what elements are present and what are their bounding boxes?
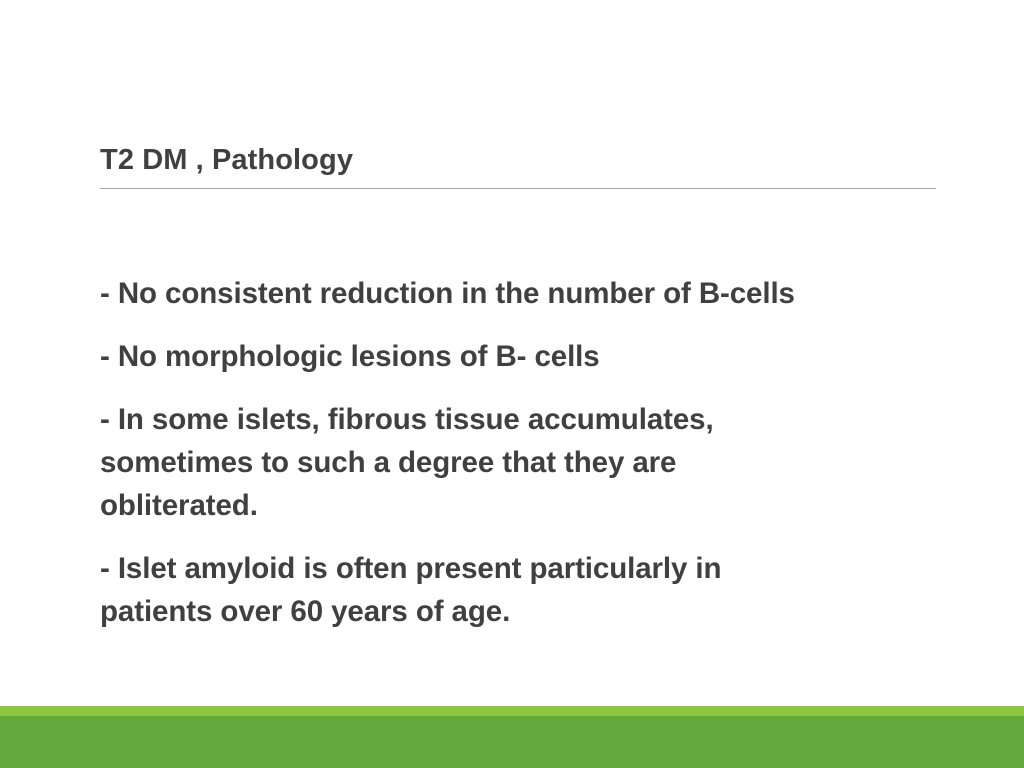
footer-accent-bar-light: [0, 706, 1024, 716]
slide-body: - No consistent reduction in the number …: [100, 272, 950, 633]
body-paragraph: - Islet amyloid is often present particu…: [100, 547, 950, 633]
body-paragraph: - No consistent reduction in the number …: [100, 272, 950, 315]
presentation-slide: T2 DM , Pathology - No consistent reduct…: [0, 0, 1024, 768]
body-paragraph: - No morphologic lesions of B- cells: [100, 335, 950, 378]
title-block: T2 DM , Pathology: [100, 140, 936, 189]
footer-accent-bar-dark: [0, 716, 1024, 768]
page-title: T2 DM , Pathology: [100, 140, 936, 180]
title-divider: [100, 188, 936, 189]
body-paragraph: - In some islets, fibrous tissue accumul…: [100, 398, 950, 527]
